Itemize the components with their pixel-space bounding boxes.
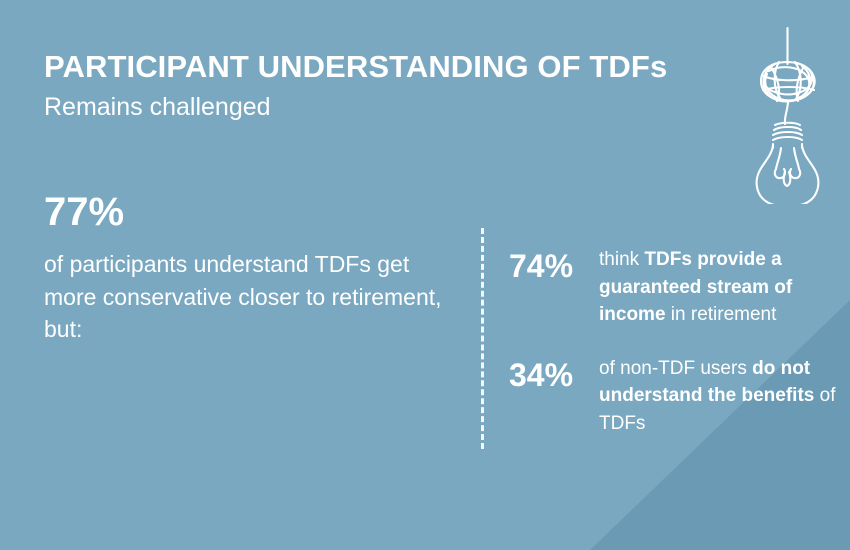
left-stat-block: 77% of participants understand TDFs get … <box>44 192 454 346</box>
stat-tail-text: in retirement <box>666 304 777 325</box>
tangled-lightbulb-icon <box>735 24 840 204</box>
stat-lead-text: of non-TDF users <box>599 358 752 379</box>
stat-description: think TDFs provide a guaranteed stream o… <box>599 246 839 329</box>
left-stat-description: of participants understand TDFs get more… <box>44 248 454 346</box>
stat-percent: 34% <box>509 355 599 391</box>
page-subtitle: Remains challenged <box>44 94 744 122</box>
vertical-dashed-divider <box>481 228 484 449</box>
header-block: PARTICIPANT UNDERSTANDING OF TDFs Remain… <box>44 50 744 122</box>
stat-row: 74% think TDFs provide a guaranteed stre… <box>509 246 839 329</box>
page-title: PARTICIPANT UNDERSTANDING OF TDFs <box>44 50 744 84</box>
right-stats-block: 74% think TDFs provide a guaranteed stre… <box>509 246 839 463</box>
infographic-canvas: PARTICIPANT UNDERSTANDING OF TDFs Remain… <box>0 0 850 550</box>
left-stat-percent: 77% <box>44 192 454 232</box>
stat-description: of non-TDF users do not understand the b… <box>599 355 839 438</box>
stat-row: 34% of non-TDF users do not understand t… <box>509 355 839 438</box>
stat-lead-text: think <box>599 249 644 270</box>
stat-percent: 74% <box>509 246 599 282</box>
